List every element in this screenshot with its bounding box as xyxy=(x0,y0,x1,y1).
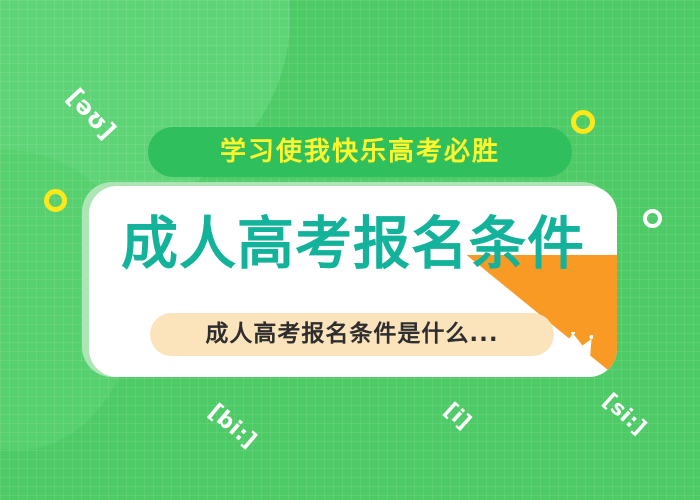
subtitle-text: 成人高考报名条件是什么... xyxy=(205,323,498,346)
ring-yellow-top xyxy=(571,110,595,134)
top-banner-pill: 学习使我快乐高考必胜 xyxy=(148,127,572,177)
main-card: 成人高考报名条件 成人高考报名条件是什么... xyxy=(89,186,617,377)
top-banner-text: 学习使我快乐高考必胜 xyxy=(220,139,500,165)
crown-icon xyxy=(553,332,593,360)
poster-canvas: [əʊ] [bi:] [i] [si:] 学习使我快乐高考必胜 成人高考报名条件… xyxy=(0,0,700,500)
phonetic-label-4: [si:] xyxy=(598,388,651,439)
subtitle-pill: 成人高考报名条件是什么... xyxy=(150,313,554,356)
phonetic-label-2: [bi:] xyxy=(203,399,261,453)
page-title: 成人高考报名条件 xyxy=(89,216,617,273)
ring-yellow-left xyxy=(44,189,67,212)
ring-white-right xyxy=(643,209,662,228)
phonetic-label-3: [i] xyxy=(440,398,477,435)
